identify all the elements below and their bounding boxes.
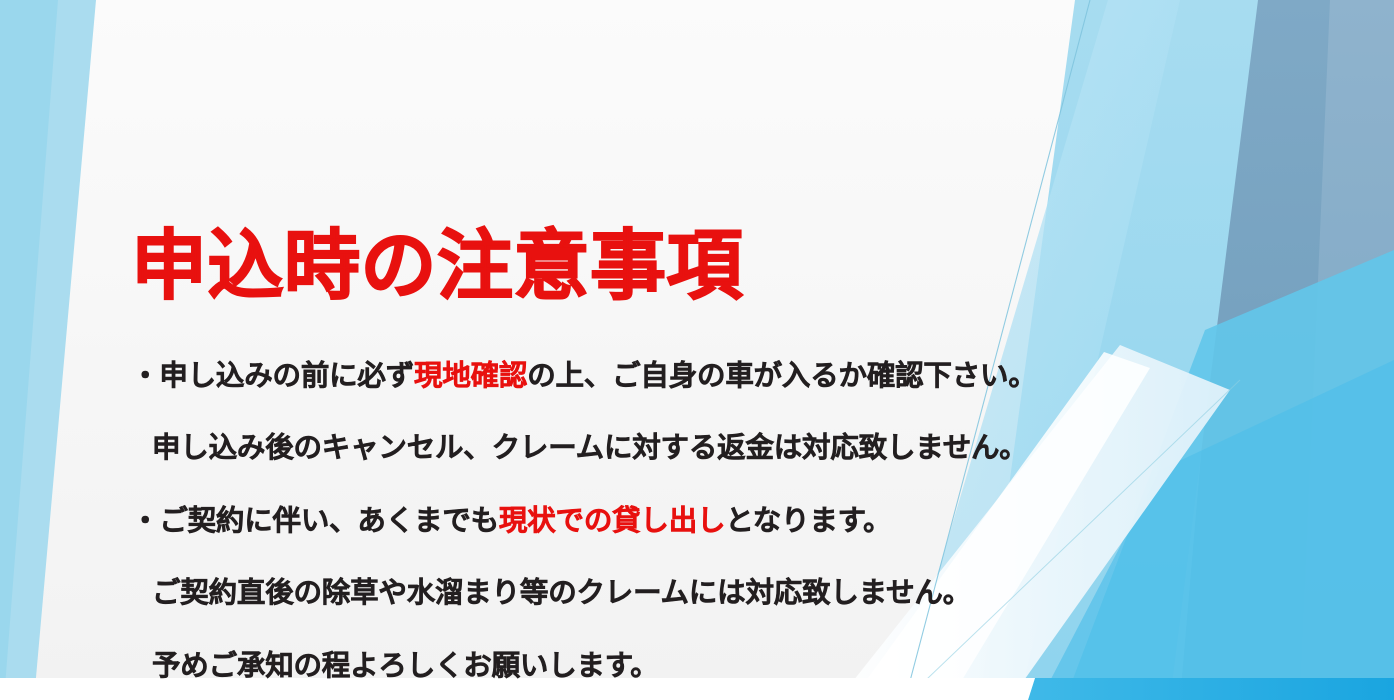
body-text: ご契約直後の除草や水溜まり等のクレームには対応致しません。 [152, 577, 971, 609]
slide-body: ・申し込みの前に必ず現地確認の上、ご自身の車が入るか確認下さい。申し込み後のキャ… [131, 325, 1141, 700]
body-line: ・申し込みの前に必ず現地確認の上、ご自身の車が入るか確認下さい。 [131, 354, 1141, 398]
left-accent-band-inner [0, 0, 58, 700]
body-text: となります。 [725, 505, 891, 537]
right-slate-wedge-2 [1300, 0, 1394, 700]
bullet-marker: ・ [131, 505, 159, 537]
slide-title: 申込時の注意事項 [131, 229, 743, 305]
presentation-slide: 申込時の注意事項 ・申し込みの前に必ず現地確認の上、ご自身の車が入るか確認下さい… [0, 0, 1394, 700]
body-text-emphasis: 現状での貸し出し [499, 505, 725, 537]
body-text: 申し込みの前に必ず [159, 360, 414, 392]
body-text: ご契約に伴い、あくまでも [159, 505, 499, 537]
body-text: 予めご承知の程よろしくお願いします。 [152, 650, 659, 682]
body-text: 申し込み後のキャンセル、クレームに対する返金は対応致しません。 [152, 432, 1028, 464]
body-line: 予めご承知の程よろしくお願いします。 [131, 644, 1141, 688]
right-slate-wedge [1180, 0, 1394, 700]
body-text: の上、ご自身の車が入るか確認下さい。 [527, 360, 1036, 392]
body-line: 申し込み後のキャンセル、クレームに対する返金は対応致しません。 [131, 426, 1141, 470]
body-line: ・ご契約に伴い、あくまでも現状での貸し出しとなります。 [131, 499, 1141, 543]
body-text-emphasis: 現地確認 [414, 360, 527, 392]
left-accent-band [0, 0, 96, 700]
bullet-marker: ・ [131, 360, 159, 392]
body-line: ご契約直後の除草や水溜まり等のクレームには対応致しません。 [131, 571, 1141, 615]
